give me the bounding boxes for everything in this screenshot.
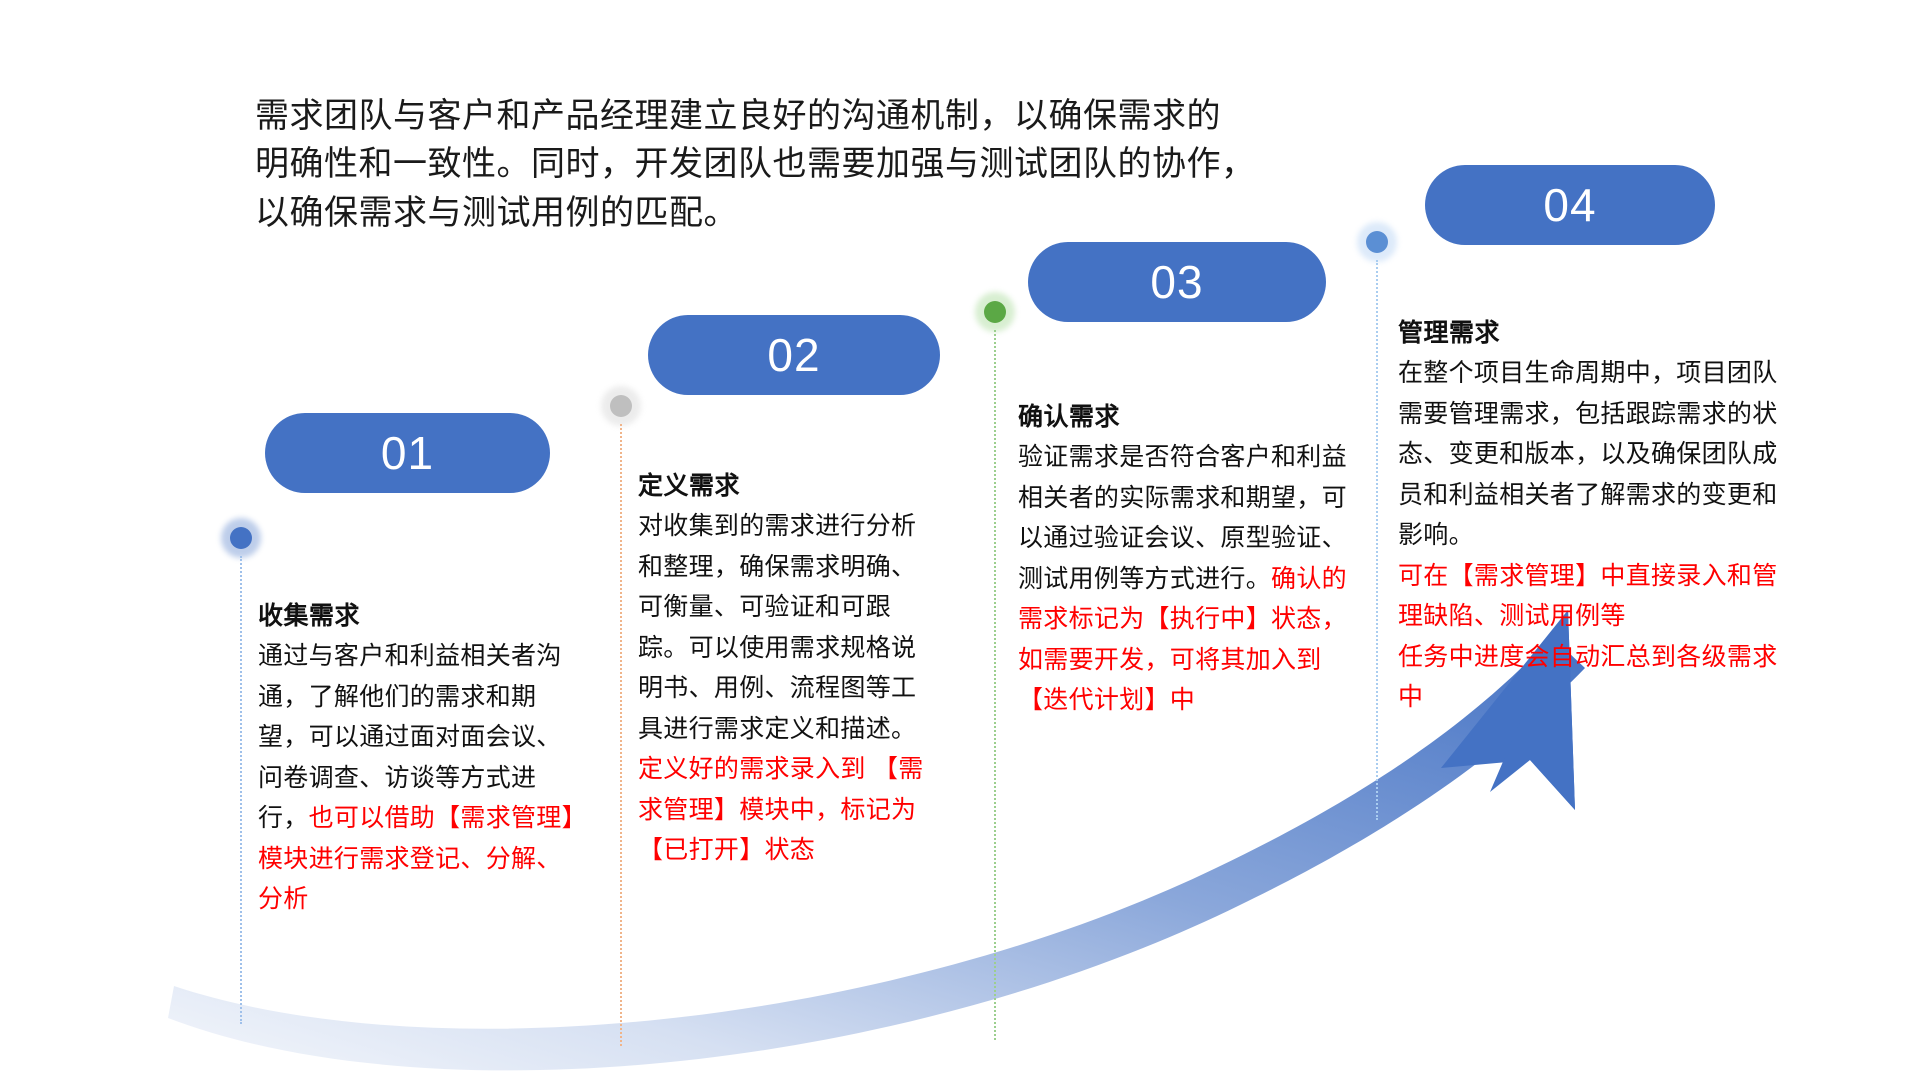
infographic-canvas: 需求团队与客户和产品经理建立良好的沟通机制，以确保需求的 明确性和一致性。同时，… xyxy=(0,0,1920,1080)
connector-line-01 xyxy=(240,556,244,1024)
connector-line-04 xyxy=(1376,260,1380,820)
step-text-block-04: 管理需求 在整个项目生命周期中，项目团队需要管理需求，包括跟踪需求的状态、变更和… xyxy=(1398,313,1798,718)
step-badge-01[interactable]: 01 xyxy=(265,413,550,493)
connector-line-03 xyxy=(994,330,998,1040)
step-title-02: 定义需求 xyxy=(638,466,938,502)
step-body-red-04: 可在【需求管理】中直接录入和管理缺陷、测试用例等 任务中进度会自动汇总到各级需求… xyxy=(1398,556,1798,718)
connector-dot-01 xyxy=(230,527,252,549)
connector-line-02 xyxy=(620,424,624,1046)
step-number-02: 02 xyxy=(767,328,820,382)
connector-dot-04 xyxy=(1366,231,1388,253)
step-text-block-02: 定义需求 对收集到的需求进行分析和整理，确保需求明确、可衡量、可验证和可跟踪。可… xyxy=(638,466,938,871)
step-badge-03[interactable]: 03 xyxy=(1028,242,1326,322)
step-body-02: 对收集到的需求进行分析和整理，确保需求明确、可衡量、可验证和可跟踪。可以使用需求… xyxy=(638,506,938,871)
step-body-04: 在整个项目生命周期中，项目团队需要管理需求，包括跟踪需求的状态、变更和版本，以及… xyxy=(1398,353,1798,718)
connector-dot-02 xyxy=(610,395,632,417)
step-badge-04[interactable]: 04 xyxy=(1425,165,1715,245)
step-text-block-03: 确认需求 验证需求是否符合客户和利益相关者的实际需求和期望，可以通过验证会议、原… xyxy=(1018,397,1353,721)
intro-paragraph: 需求团队与客户和产品经理建立良好的沟通机制，以确保需求的 明确性和一致性。同时，… xyxy=(255,92,1305,237)
step-number-03: 03 xyxy=(1150,255,1203,309)
step-title-04: 管理需求 xyxy=(1398,313,1798,349)
step-title-01: 收集需求 xyxy=(258,596,580,632)
step-body-red-02: 定义好的需求录入到 【需求管理】模块中，标记为【已打开】状态 xyxy=(638,755,924,864)
connector-dot-03 xyxy=(984,301,1006,323)
step-number-04: 04 xyxy=(1543,178,1596,232)
step-body-01: 通过与客户和利益相关者沟通，了解他们的需求和期望，可以通过面对面会议、问卷调查、… xyxy=(258,636,580,920)
step-body-black-02: 对收集到的需求进行分析和整理，确保需求明确、可衡量、可验证和可跟踪。可以使用需求… xyxy=(638,512,916,743)
step-body-black-04: 在整个项目生命周期中，项目团队需要管理需求，包括跟踪需求的状态、变更和版本，以及… xyxy=(1398,359,1778,549)
step-title-03: 确认需求 xyxy=(1018,397,1353,433)
step-body-03: 验证需求是否符合客户和利益相关者的实际需求和期望，可以通过验证会议、原型验证、测… xyxy=(1018,437,1353,721)
step-badge-02[interactable]: 02 xyxy=(648,315,940,395)
step-number-01: 01 xyxy=(381,426,434,480)
step-text-block-01: 收集需求 通过与客户和利益相关者沟通，了解他们的需求和期望，可以通过面对面会议、… xyxy=(258,596,580,920)
